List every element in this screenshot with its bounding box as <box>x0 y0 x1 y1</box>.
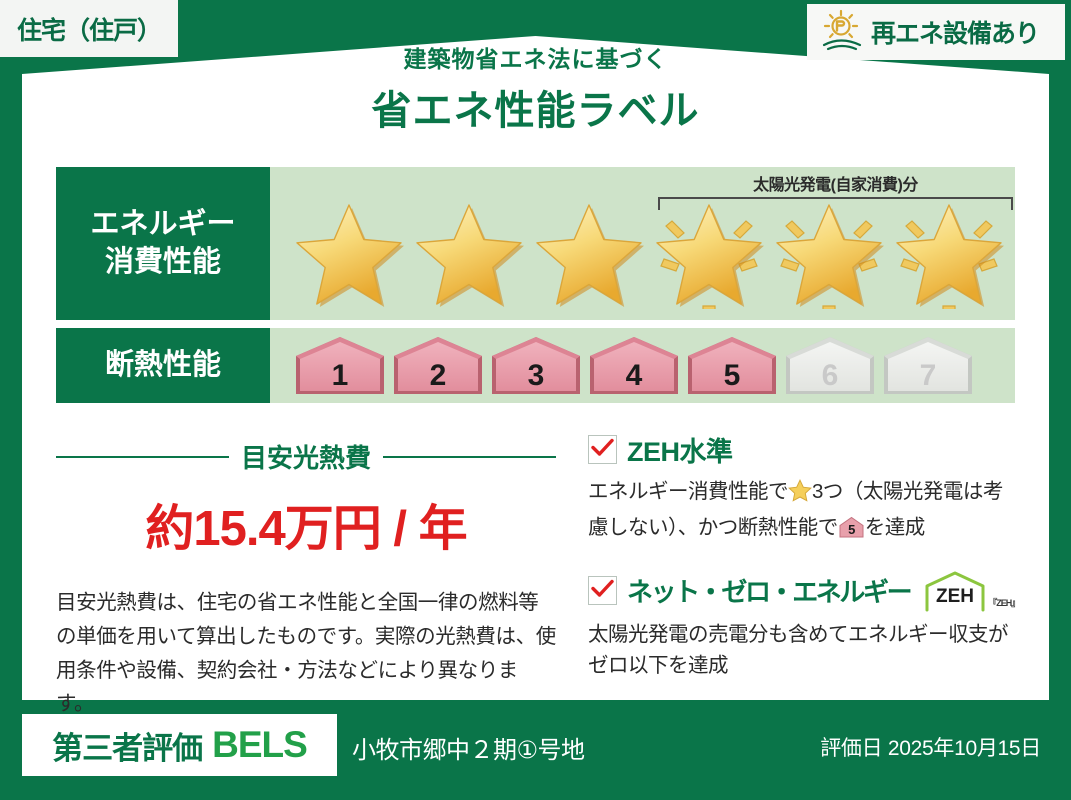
energy-performance-key: エネルギー 消費性能 <box>56 167 270 320</box>
star-glyph <box>770 197 888 309</box>
zeh-standard-title: ZEH水準 <box>627 430 733 469</box>
insulation-level-7: 7 <box>880 334 976 397</box>
zeh-standard-body: エネルギー消費性能で3つ（太陽光発電は考慮しない）、かつ断熱性能で5を達成 <box>588 476 1019 548</box>
insulation-level-number: 3 <box>488 361 584 391</box>
energy-performance-value: 太陽光発電(自家消費)分 <box>270 167 1015 320</box>
svg-text:5: 5 <box>848 522 855 537</box>
housing-type-tag: 住宅（住戸） <box>0 0 178 57</box>
insulation-level-3: 3 <box>488 334 584 397</box>
renewable-energy-badge: 再エネ設備あり <box>807 4 1065 60</box>
insulation-level-5: 5 <box>684 334 780 397</box>
energy-performance-row: エネルギー 消費性能 太陽光発電(自家消費)分 <box>56 167 1015 320</box>
star-glyph <box>410 197 528 309</box>
star-glyph <box>650 197 768 309</box>
zeh-column: ZEH水準 エネルギー消費性能で3つ（太陽光発電は考慮しない）、かつ断熱性能で5… <box>556 430 1019 721</box>
title-heading: 省エネ性能ラベル <box>0 78 1071 136</box>
heading-rule-left <box>56 456 229 458</box>
utility-cost-title: 目安光熱費 <box>241 438 371 475</box>
insulation-level-number: 1 <box>292 361 388 391</box>
star-icon <box>788 479 812 512</box>
zeh-standard-checkbox[interactable] <box>588 435 617 464</box>
net-zero-energy-checkbox[interactable] <box>588 576 617 605</box>
bels-en-label: BELS <box>212 724 307 766</box>
bottom-area: 目安光熱費 約15.4万円 / 年 目安光熱費は、住宅の省エネ性能と全国一律の燃… <box>56 430 1018 721</box>
star-1 <box>290 197 408 309</box>
star-3 <box>530 197 648 309</box>
zeh-standard-text-3: を達成 <box>865 516 925 539</box>
star-glyph <box>890 197 1008 309</box>
star-rating-strip <box>270 197 1015 309</box>
house-level-5-icon: 5 <box>838 516 865 548</box>
star-glyph <box>530 197 648 309</box>
insulation-performance-key: 断熱性能 <box>56 328 270 403</box>
utility-cost-amount: 約15.4万円 / 年 <box>56 489 556 560</box>
svg-text:ZEH: ZEH <box>936 586 974 607</box>
insulation-level-strip: 1234567 <box>292 334 976 397</box>
energy-performance-label: 住宅（住戸） 再エネ設備あり <box>0 0 1071 800</box>
check-icon <box>591 579 614 603</box>
insulation-level-number: 5 <box>684 361 780 391</box>
solar-bracket-caption: 太陽光発電(自家消費)分 <box>658 171 1013 195</box>
insulation-level-6: 6 <box>782 334 878 397</box>
bels-plate: 第三者評価 BELS <box>22 714 337 776</box>
insulation-level-number: 2 <box>390 361 486 391</box>
insulation-level-number: 7 <box>880 361 976 391</box>
star-5 <box>770 197 888 309</box>
star-2 <box>410 197 528 309</box>
bels-jp-label: 第三者評価 <box>52 723 202 768</box>
insulation-level-number: 4 <box>586 361 682 391</box>
zeh-logo-caption: 『ZEH』 <box>988 596 1019 612</box>
energy-key-line2: 消費性能 <box>105 244 221 281</box>
zeh-standard-block: ZEH水準 エネルギー消費性能で3つ（太陽光発電は考慮しない）、かつ断熱性能で5… <box>588 430 1019 548</box>
zeh-standard-head: ZEH水準 <box>588 430 1019 469</box>
utility-cost-column: 目安光熱費 約15.4万円 / 年 目安光熱費は、住宅の省エネ性能と全国一律の燃… <box>56 430 556 721</box>
net-zero-energy-body: 太陽光発電の売電分も含めてエネルギー収支がゼロ以下を達成 <box>588 619 1019 683</box>
insulation-performance-row: 断熱性能 1234567 <box>56 328 1015 403</box>
star-6 <box>890 197 1008 309</box>
insulation-level-4: 4 <box>586 334 682 397</box>
star-4 <box>650 197 768 309</box>
net-zero-energy-title: ネット・ゼロ・エネルギー <box>627 572 910 609</box>
zeh-standard-text-1: エネルギー消費性能で <box>588 480 788 503</box>
insulation-level-1: 1 <box>292 334 388 397</box>
housing-type-label: 住宅（住戸） <box>17 11 161 47</box>
insulation-level-number: 6 <box>782 361 878 391</box>
net-zero-energy-head: ネット・ゼロ・エネルギー ZEH 『ZEH』 <box>588 570 1019 612</box>
performance-rows: エネルギー 消費性能 太陽光発電(自家消費)分 断熱性能 1234567 <box>56 167 1015 403</box>
evaluation-date: 評価日 2025年10月15日 <box>820 732 1041 762</box>
net-zero-energy-block: ネット・ゼロ・エネルギー ZEH 『ZEH』 太陽光発電の売電分も含めてエネルギ… <box>588 570 1019 683</box>
footer: 第三者評価 BELS 小牧市郷中２期①号地 評価日 2025年10月15日 <box>0 700 1071 800</box>
insulation-level-2: 2 <box>390 334 486 397</box>
heading-rule-right <box>383 456 556 458</box>
zeh-logo: ZEH 『ZEH』 <box>924 570 1019 612</box>
property-name: 小牧市郷中２期①号地 <box>352 730 585 765</box>
star-glyph <box>290 197 408 309</box>
solar-sun-icon <box>819 8 865 57</box>
insulation-performance-value: 1234567 <box>270 328 1015 403</box>
energy-key-line1: エネルギー <box>90 206 235 243</box>
check-icon <box>591 438 614 462</box>
insulation-key-label: 断熱性能 <box>105 347 221 384</box>
renewable-badge-label: 再エネ設備あり <box>871 14 1039 50</box>
utility-cost-heading: 目安光熱費 <box>56 438 556 475</box>
